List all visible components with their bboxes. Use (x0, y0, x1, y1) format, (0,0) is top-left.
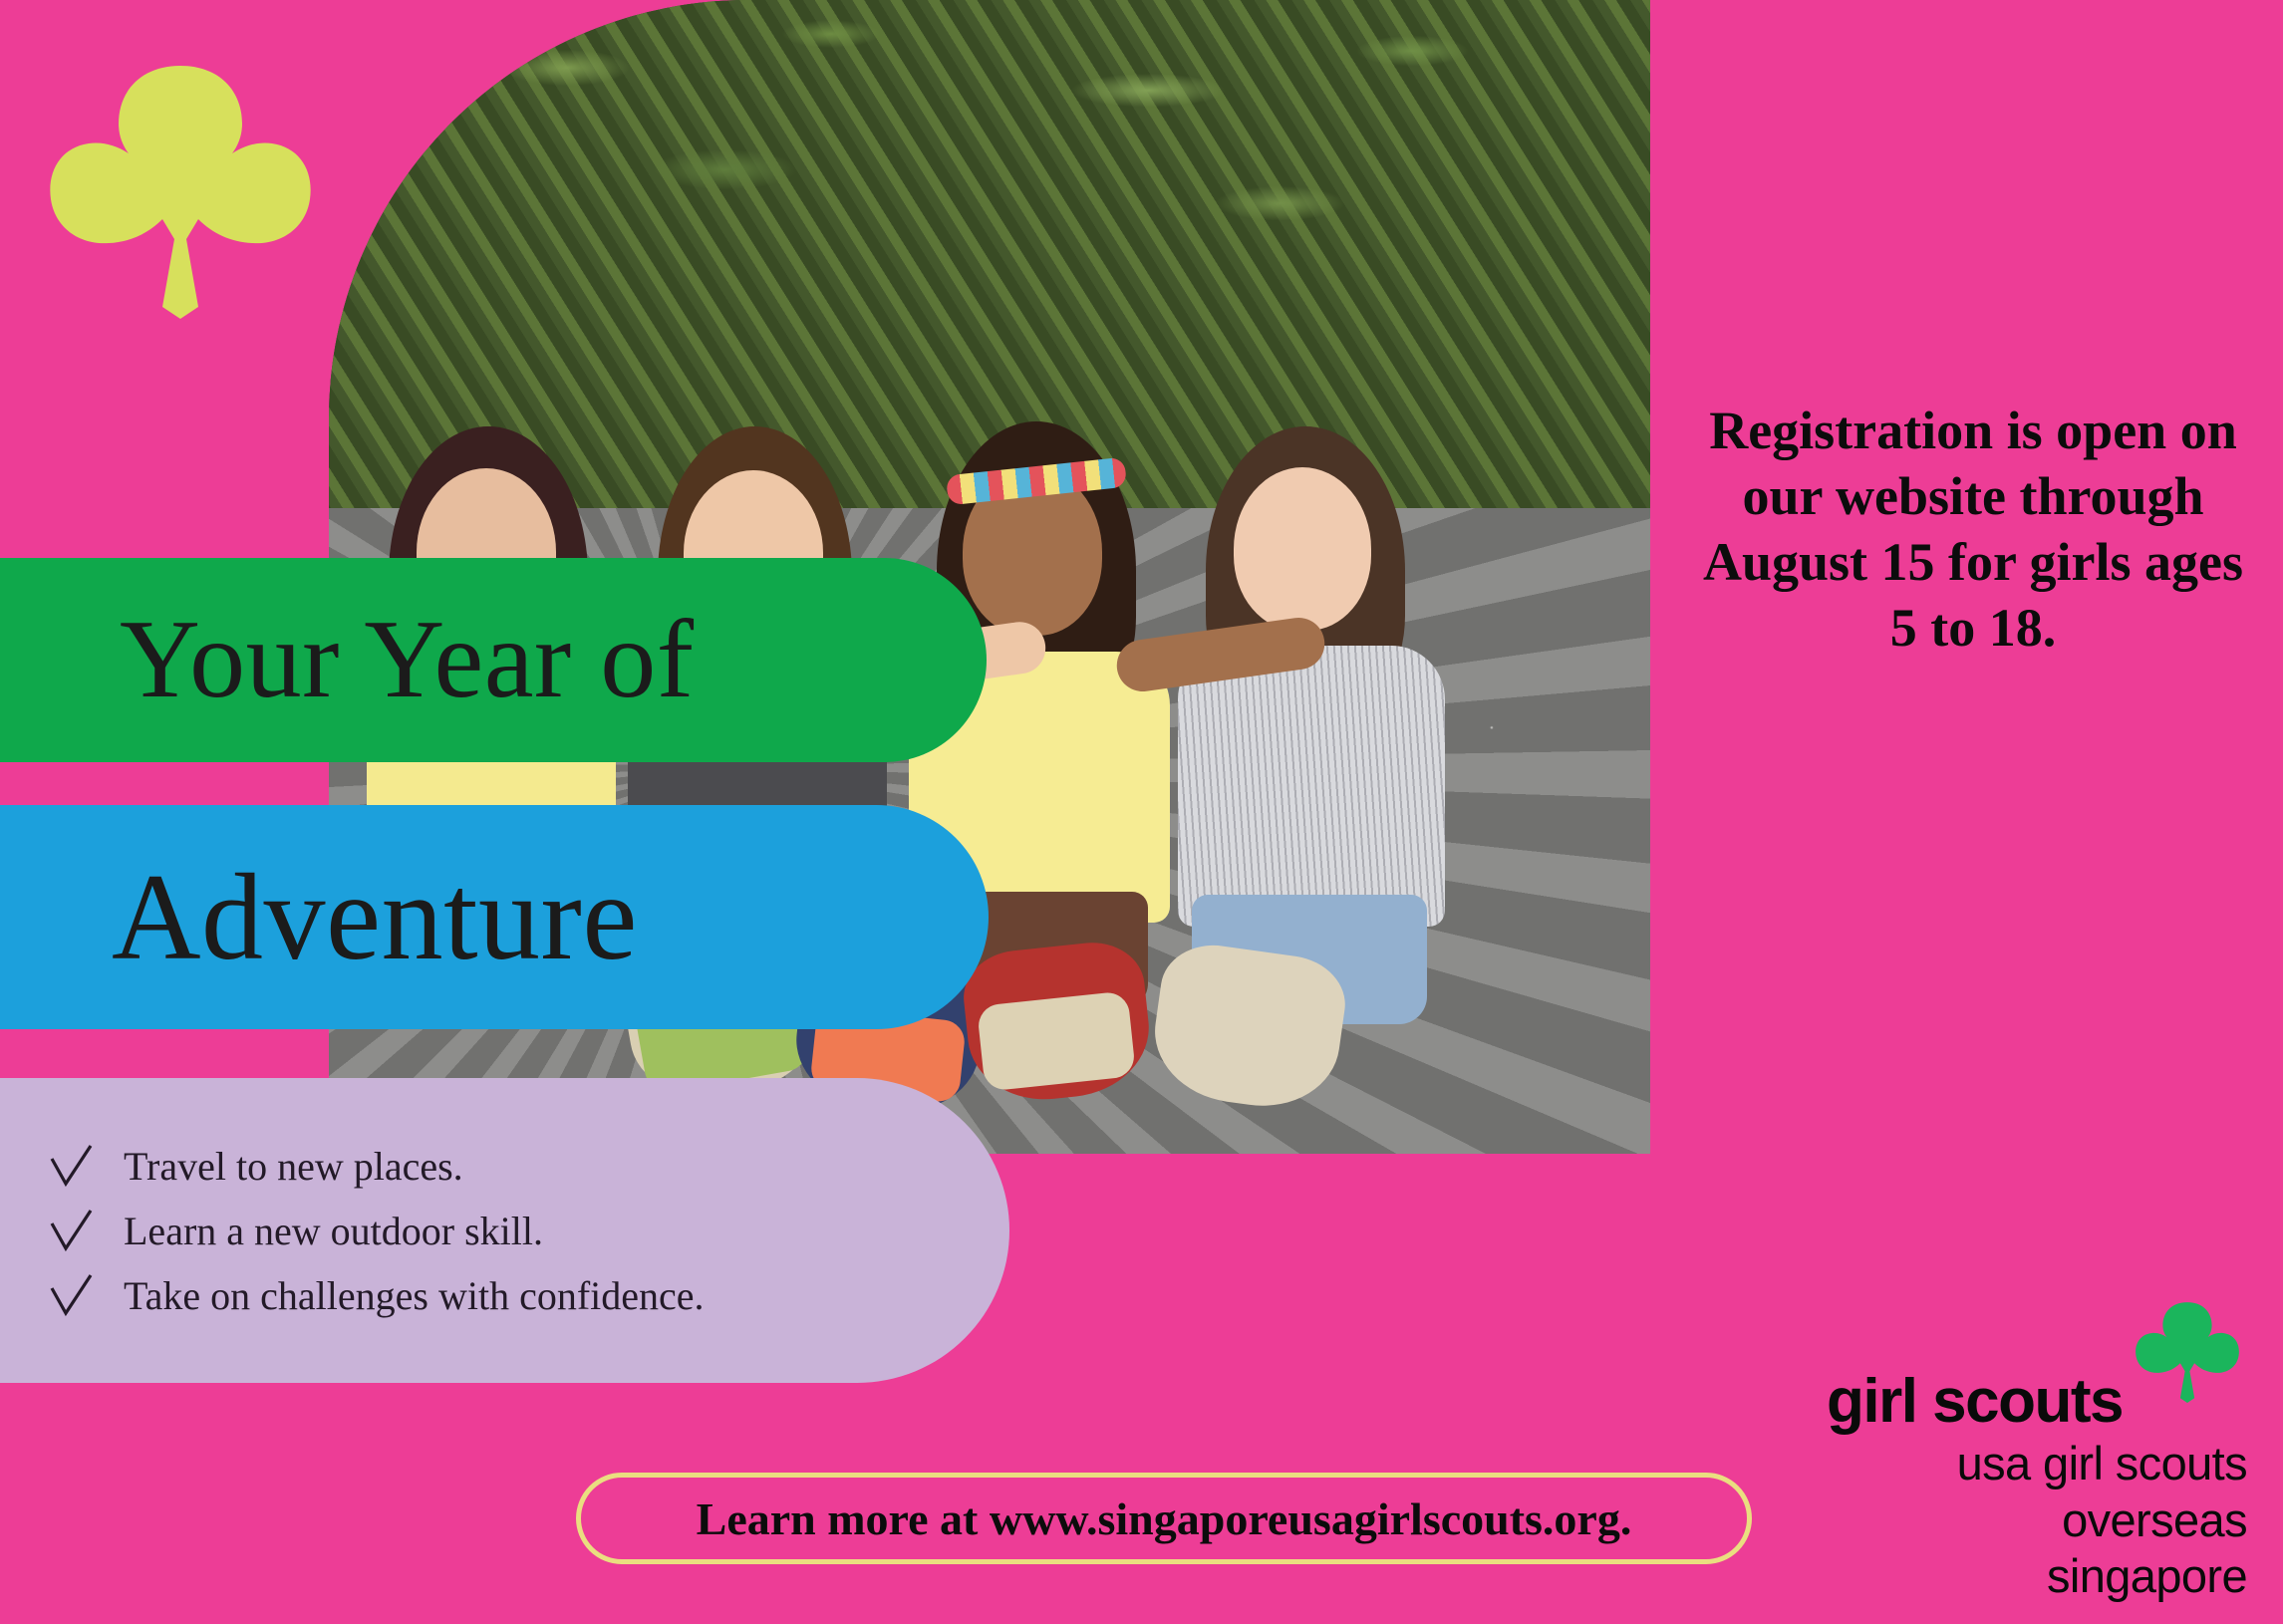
list-item: Take on challenges with confidence. (48, 1272, 1009, 1319)
logo-subline-2: overseas (1819, 1495, 2247, 1546)
headline-bar-line1: Your Year of (0, 558, 987, 762)
trefoil-icon (2134, 1299, 2241, 1403)
list-item: Learn a new outdoor skill. (48, 1208, 1009, 1254)
headline-line2-text: Adventure (112, 847, 638, 988)
logo-subline-3: singapore (1819, 1551, 2247, 1602)
list-item: Travel to new places. (48, 1143, 1009, 1190)
benefit-label: Learn a new outdoor skill. (124, 1208, 543, 1254)
check-icon (48, 1208, 94, 1253)
girl-scouts-logo: girl scouts usa girl scouts overseas sin… (1819, 1371, 2247, 1602)
poster-canvas: Your Year of Adventure Registration is o… (0, 0, 2283, 1624)
headline-bar-line2: Adventure (0, 805, 989, 1029)
headline-line1-text: Your Year of (120, 596, 695, 724)
benefit-label: Travel to new places. (124, 1143, 463, 1190)
registration-text: Registration is open on our website thro… (1694, 399, 2252, 662)
check-icon (48, 1272, 94, 1318)
trefoil-icon (45, 58, 316, 319)
benefit-label: Take on challenges with confidence. (124, 1272, 705, 1319)
learn-more-button[interactable]: Learn more at www.singaporeusagirlscouts… (576, 1473, 1752, 1564)
learn-more-label: Learn more at www.singaporeusagirlscouts… (697, 1492, 1632, 1545)
benefits-list: Travel to new places. Learn a new outdoo… (0, 1078, 1009, 1383)
check-icon (48, 1143, 94, 1189)
logo-subline-1: usa girl scouts (1819, 1439, 2247, 1489)
